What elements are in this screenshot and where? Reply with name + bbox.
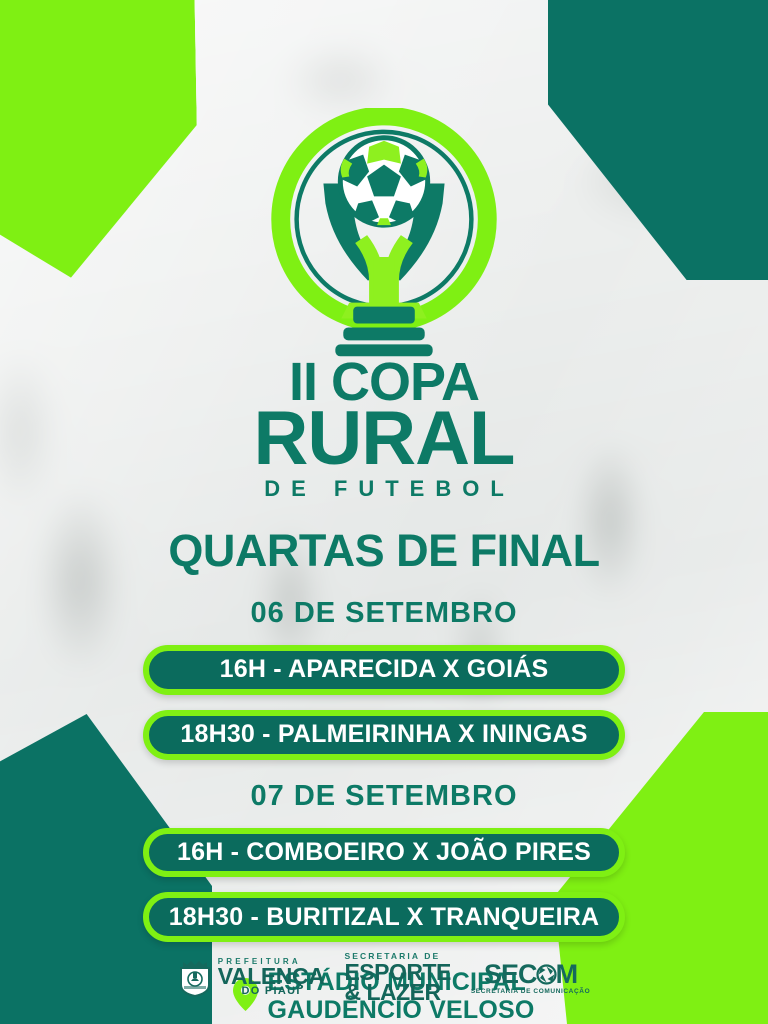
- match-pill[interactable]: 16H - APARECIDA X GOIÁS: [143, 645, 625, 695]
- secom-text-part1: SEC: [484, 961, 537, 988]
- match-label: 18H30 - BURITIZAL X TRANQUEIRA: [169, 903, 600, 932]
- secom-subtitle: SECRETARIA DE COMUNICAÇÃO: [471, 989, 590, 996]
- valenca-coat-of-arms: [178, 959, 212, 997]
- event-wordmark: II COPA RURAL DE FUTEBOL: [253, 358, 515, 499]
- secom-logo: SEC M SECRETARIA DE COMUNICAÇÃO: [471, 961, 590, 996]
- tournament-poster: II COPA RURAL DE FUTEBOL QUARTAS DE FINA…: [0, 0, 768, 1024]
- match-pill[interactable]: 18H30 - BURITIZAL X TRANQUEIRA: [143, 892, 625, 942]
- phase-title: QUARTAS DE FINAL: [168, 525, 599, 577]
- wordmark-subtitle: DE FUTEBOL: [253, 479, 515, 499]
- footer-logos: PREFEITURA VALENÇA DO PIAUÍ SECRETARIA D…: [0, 952, 768, 1005]
- match-label: 16H - APARECIDA X GOIÁS: [220, 655, 549, 684]
- camera-aperture-icon: [536, 964, 557, 985]
- wordmark-line-rural: RURAL: [253, 404, 515, 474]
- prefeitura-logo: PREFEITURA VALENÇA DO PIAUÍ: [178, 958, 325, 997]
- date-heading-day2: 07 DE SETEMBRO: [251, 780, 518, 813]
- secom-text-part2: M: [556, 961, 578, 988]
- date-heading-day1: 06 DE SETEMBRO: [251, 597, 518, 630]
- esporte-line-2: & LAZER: [344, 981, 450, 1004]
- match-pill[interactable]: 18H30 - PALMEIRINHA X ININGAS: [143, 710, 625, 760]
- match-label: 16H - COMBOEIRO X JOÃO PIRES: [177, 838, 591, 867]
- esporte-lazer-logo: SECRETARIA DE ESPORTE & LAZER: [344, 952, 450, 1005]
- match-pill[interactable]: 16H - COMBOEIRO X JOÃO PIRES: [143, 828, 625, 878]
- trophy-soccer-ball-emblem: [257, 108, 511, 362]
- poster-content: II COPA RURAL DE FUTEBOL QUARTAS DE FINA…: [0, 0, 768, 1024]
- match-label: 18H30 - PALMEIRINHA X ININGAS: [180, 720, 587, 749]
